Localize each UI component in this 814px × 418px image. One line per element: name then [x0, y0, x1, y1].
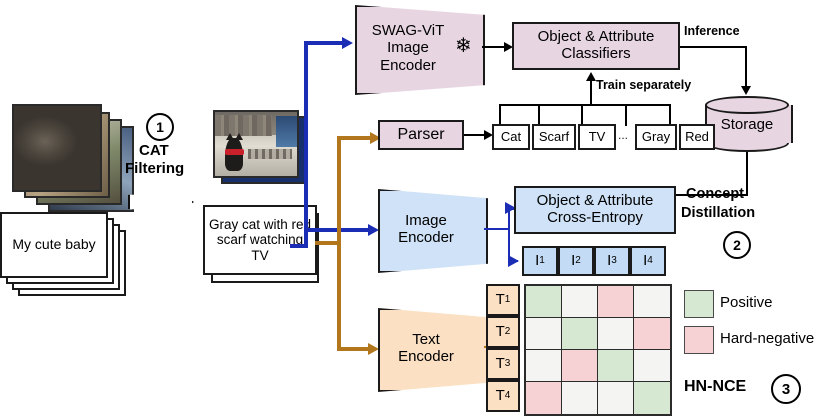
text-embedding-0[interactable]: T1 [486, 284, 520, 316]
arrowhead-ie-to-embeddings [508, 255, 519, 267]
edge-train-separately-vertical [590, 80, 592, 106]
step-3-badge: 3 [771, 374, 801, 404]
text-encoder-label: Text Encoder [381, 311, 471, 385]
train-separately-label: Train separately [596, 78, 691, 92]
diagram-canvas: My cute baby 1 CAT Filtering Gray cat wi… [0, 0, 814, 418]
card-stack-icon: My cute baby [0, 212, 140, 312]
edge-image-bus-vertical [304, 41, 308, 248]
token-tree-stub-1 [499, 104, 501, 126]
matrix-cell-T2-I1 [526, 318, 562, 350]
object-attribute-classifiers[interactable]: Object & Attribute Classifiers [512, 22, 680, 70]
token-label-1: Scarf [539, 130, 569, 145]
legend-swatch-hard-negative [684, 326, 714, 354]
token-box-2[interactable]: TV [578, 124, 616, 150]
text-embedding-label-3: T [496, 388, 505, 405]
cat-filtering-label-line1: CAT [139, 142, 169, 159]
edge-inference-horizontal [680, 46, 747, 48]
token-ellipsis: ... [618, 128, 628, 142]
edge-to-swag-vit [304, 41, 344, 45]
step-2-badge: 2 [723, 231, 751, 259]
text-embedding-1[interactable]: T2 [486, 316, 520, 348]
text-encoder-line-2: Encoder [398, 348, 454, 365]
image-embedding-sub-3: 4 [647, 255, 653, 266]
matrix-cell-T1-I4 [634, 286, 670, 318]
filtered-caption-text: Gray cat with red scarf watching TV [203, 205, 317, 275]
matrix-cell-T1-I3 [598, 286, 634, 318]
photo-stack-icon [10, 104, 140, 214]
image-encoder-line-2: Encoder [398, 229, 454, 246]
token-box-0[interactable]: Cat [492, 124, 530, 150]
token-label-4: Gray [642, 130, 670, 145]
edge-inference-vertical [745, 46, 747, 88]
image-encoder-line-1: Image [405, 212, 447, 229]
noisy-caption-text: My cute baby [0, 212, 108, 278]
token-tree-stub-5 [669, 104, 671, 126]
matrix-cell-T4-I3 [598, 382, 634, 414]
image-encoder-label: Image Encoder [381, 192, 471, 266]
concept-distillation-line1: Concept [686, 186, 744, 202]
edge-ie-fan-vertical [508, 208, 510, 262]
hn-nce-label: HN-NCE [684, 378, 746, 396]
swag-vit-line-1: SWAG-ViT [372, 22, 445, 39]
snowflake-icon: ❄ [455, 36, 472, 56]
matrix-cell-T3-I1 [526, 350, 562, 382]
text-embedding-label-0: T [496, 292, 505, 309]
text-embedding-label-2: T [496, 356, 505, 373]
text-embedding-sub-2: 3 [505, 358, 511, 369]
image-embedding-1[interactable]: I2 [558, 246, 594, 276]
edge-storage-down [746, 152, 748, 196]
parser-block[interactable]: Parser [378, 120, 464, 150]
text-embedding-sub-0: 1 [505, 294, 511, 305]
text-embedding-sub-1: 2 [505, 326, 511, 337]
token-box-1[interactable]: Scarf [532, 124, 576, 150]
matrix-cell-T2-I3 [598, 318, 634, 350]
edge-caption-bus-vertical [337, 136, 341, 351]
matrix-cell-T4-I1 [526, 382, 562, 414]
storage-cylinder[interactable]: Storage [705, 96, 789, 152]
token-label-2: TV [589, 130, 606, 145]
matrix-cell-T2-I2 [562, 318, 598, 350]
matrix-cell-T1-I1 [526, 286, 562, 318]
cross-entropy-line-2: Cross-Entropy [547, 210, 643, 227]
arrowhead-to-image-encoder [368, 224, 379, 236]
edge-swag-to-classifiers [482, 46, 506, 48]
token-label-0: Cat [501, 130, 521, 145]
legend-swatch-positive [684, 290, 714, 318]
token-tree-stub-3 [581, 104, 583, 126]
text-embedding-3[interactable]: T4 [486, 380, 520, 412]
similarity-matrix[interactable] [524, 284, 672, 416]
image-embedding-2[interactable]: I3 [594, 246, 630, 276]
classifiers-line-2: Classifiers [561, 46, 630, 63]
matrix-cell-T1-I2 [562, 286, 598, 318]
arrowhead-train-separately [586, 72, 596, 81]
edge-ie-out [484, 228, 510, 230]
cross-entropy-line-1: Object & Attribute [537, 193, 654, 210]
legend-label-hard-negative: Hard-negative [720, 330, 814, 347]
step-1-badge: 1 [146, 113, 174, 141]
swag-vit-line-2: Image [387, 39, 429, 56]
image-embedding-0[interactable]: I1 [522, 246, 558, 276]
token-tree-spine [499, 104, 671, 106]
classifiers-line-1: Object & Attribute [538, 29, 655, 46]
token-tree-stub-2 [538, 104, 540, 126]
image-embedding-sub-1: 2 [575, 255, 581, 266]
token-tree-stub-4 [625, 104, 627, 126]
cat-filtering-label-line2: Filtering [125, 160, 184, 177]
swag-vit-label: SWAG-ViT Image Encoder [360, 8, 456, 88]
image-embedding-3[interactable]: I4 [630, 246, 666, 276]
image-embedding-sub-0: 1 [539, 255, 545, 266]
matrix-cell-T3-I4 [634, 350, 670, 382]
object-attribute-cross-entropy[interactable]: Object & Attribute Cross-Entropy [514, 186, 676, 234]
token-box-4[interactable]: Gray [635, 124, 677, 150]
text-encoder-line-1: Text [412, 331, 440, 348]
matrix-cell-T3-I2 [562, 350, 598, 382]
filtered-image [213, 110, 305, 182]
image-embedding-sub-2: 3 [611, 255, 617, 266]
legend-label-positive: Positive [720, 294, 773, 311]
parser-label: Parser [397, 126, 444, 144]
matrix-cell-T2-I4 [634, 318, 670, 350]
concept-distillation-line2: Distillation [681, 205, 755, 221]
arrowhead-inference-to-storage [741, 86, 751, 95]
text-embedding-label-1: T [496, 324, 505, 341]
matrix-cell-T4-I2 [562, 382, 598, 414]
storage-label: Storage [721, 116, 774, 133]
token-label-5: Red [685, 130, 709, 145]
text-embedding-2[interactable]: T3 [486, 348, 520, 380]
token-box-5[interactable]: Red [679, 124, 715, 150]
inference-label: Inference [684, 24, 740, 38]
arrowhead-to-text-encoder [368, 343, 379, 355]
arrowhead-to-swag-vit [342, 37, 353, 49]
matrix-cell-T4-I4 [634, 382, 670, 414]
matrix-cell-T3-I3 [598, 350, 634, 382]
edge-parser-to-tokens [464, 134, 486, 136]
swag-vit-line-3: Encoder [380, 57, 436, 74]
text-embedding-sub-3: 4 [505, 390, 511, 401]
